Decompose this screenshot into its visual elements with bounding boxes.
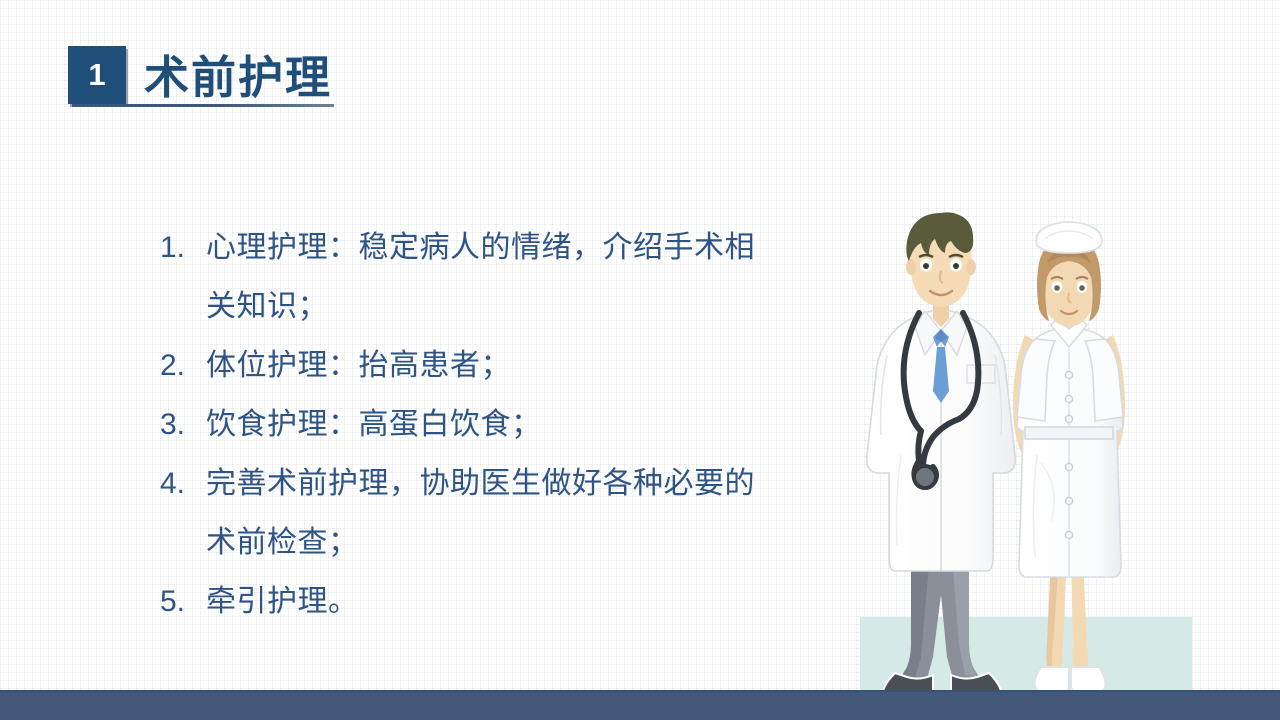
list-item-number: 3. [160,395,206,454]
slide-canvas: 1 术前护理 1. 心理护理：稳定病人的情绪，介绍手术相关知识； 2. 体位护理… [0,0,1280,720]
list-item-number: 2. [160,336,206,395]
nurse-figure [1013,222,1125,693]
doctor-and-nurse-illustration [855,205,1190,695]
people-figures-svg [855,205,1190,695]
list-item-number: 5. [160,572,206,631]
nurse-head [1036,222,1101,327]
nurse-uniform [1017,319,1123,577]
section-number-badge: 1 [68,46,126,104]
list-item: 5. 牵引护理。 [160,572,780,631]
care-steps-list: 1. 心理护理：稳定病人的情绪，介绍手术相关知识； 2. 体位护理：抬高患者； … [160,218,780,631]
page-title: 术前护理 [144,55,332,100]
list-item-number: 1. [160,218,206,277]
list-item-text: 牵引护理。 [206,572,780,631]
list-item-text: 饮食护理：高蛋白饮食； [206,395,780,454]
list-item: 1. 心理护理：稳定病人的情绪，介绍手术相关知识； [160,218,780,336]
list-item-text: 完善术前护理，协助医生做好各种必要的术前检查； [206,454,780,572]
footer-bar [0,690,1280,720]
list-item: 3. 饮食护理：高蛋白饮食； [160,395,780,454]
list-item-text: 体位护理：抬高患者； [206,336,780,395]
doctor-figure [867,212,1016,695]
list-item: 4. 完善术前护理，协助医生做好各种必要的术前检查； [160,454,780,572]
list-item-text: 心理护理：稳定病人的情绪，介绍手术相关知识； [206,218,780,336]
slide-title-block: 1 术前护理 [68,46,332,108]
title-underline-divider [72,104,334,107]
list-item: 2. 体位护理：抬高患者； [160,336,780,395]
stethoscope-chestpiece [914,466,936,488]
list-item-number: 4. [160,454,206,513]
doctor-head [906,212,976,307]
nurse-cap-icon [1036,222,1101,253]
